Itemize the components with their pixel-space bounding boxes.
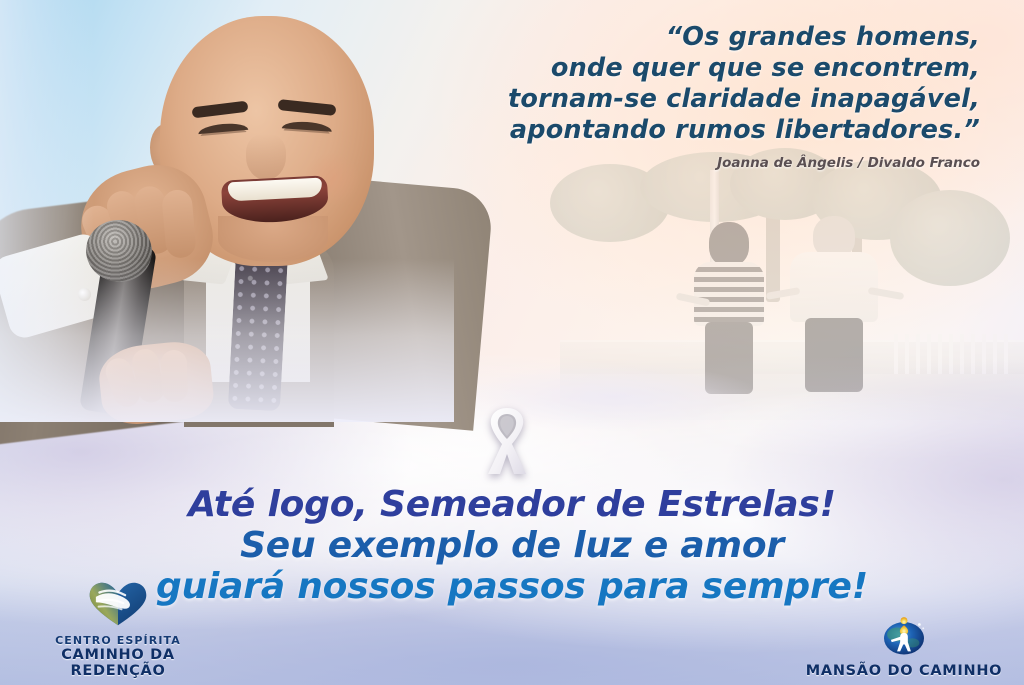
logo-right-line-2: MANSÃO DO CAMINHO [798,663,1010,679]
quote-attribution: Joanna de Ângelis / Divaldo Franco [420,155,980,171]
headline-line-1: Até logo, Semeador de Estrelas! [0,484,1024,525]
cuff-button [78,288,91,301]
quote-line-4: apontando rumos libertadores.” [420,115,980,146]
quote-line-2: onde quer que se encontrem, [420,53,980,84]
quote-block: “Os grandes homens, onde quer que se enc… [420,22,980,171]
logo-left-line-2: CAMINHO DA REDENÇÃO [12,647,224,679]
logo-mansao-do-caminho: MANSÃO DO CAMINHO [798,616,1010,679]
mourning-ribbon-icon [478,404,536,478]
logo-left-line-1: CENTRO ESPÍRITA [12,634,224,647]
globe-torch-figure-logo-icon [798,616,1010,661]
memorial-poster: “Os grandes homens, onde quer que se enc… [0,0,1024,685]
speaker-portrait [0,0,454,412]
headline-line-2: Seu exemplo de luz e amor [0,525,1024,566]
quote-line-1: “Os grandes homens, [420,22,980,53]
quote-line-3: tornam-se claridade inapagável, [420,84,980,115]
heart-hands-logo-icon [12,581,224,632]
logo-centro-espirita: CENTRO ESPÍRITA CAMINHO DA REDENÇÃO [12,581,224,679]
